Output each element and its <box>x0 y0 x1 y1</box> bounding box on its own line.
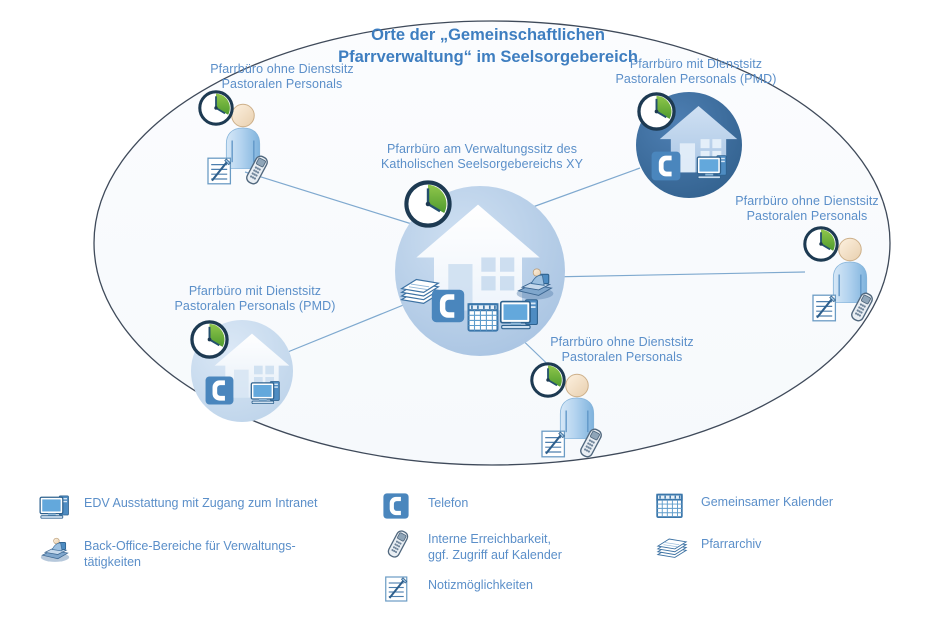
node-label-pfarrbuero-ohne-dienstsitz-top-left: Pfarrbüro ohne Dienstsitz Pastoralen Per… <box>153 62 411 92</box>
diagram-canvas: Orte der „Gemeinschaftlichen Pfarrverwal… <box>0 0 946 625</box>
legend-item-label: Pfarrarchiv <box>701 533 761 552</box>
legend-item-label: Interne Erreichbarkeit, ggf. Zugriff auf… <box>428 528 562 563</box>
node-pfarrbuero-mit-dienstsitz-pmd-top-right[interactable] <box>636 92 742 198</box>
clock-icon <box>200 92 232 124</box>
mobile-phone-icon <box>382 528 416 562</box>
notepad-icon <box>813 295 835 321</box>
telephone-icon <box>206 377 234 405</box>
legend-item-label: Back-Office-Bereiche für Verwaltungs- tä… <box>84 535 296 570</box>
legend-item-label: Gemeinsamer Kalender <box>701 491 833 510</box>
legend-item-pfarrarchiv[interactable]: Pfarrarchiv <box>655 533 761 567</box>
calendar-icon <box>469 304 498 330</box>
node-label-pfarrbuero-ohne-dienstsitz-bottom: Pfarrbüro ohne Dienstsitz Pastoralen Per… <box>527 335 717 365</box>
node-pfarrbuero-mit-dienstsitz-pmd-bottom-left[interactable] <box>191 320 293 422</box>
legend-item-gemeinsamer-kalender[interactable]: Gemeinsamer Kalender <box>655 491 833 525</box>
clock-icon <box>532 364 564 396</box>
telephone-icon <box>432 290 464 322</box>
notepad-icon <box>382 574 416 608</box>
telephone-icon <box>652 152 681 181</box>
legend-item-label: EDV Ausstattung mit Zugang zum Intranet <box>84 492 317 511</box>
clock-icon <box>639 94 674 129</box>
legend-item-back-office[interactable]: Back-Office-Bereiche für Verwaltungs- tä… <box>38 535 296 570</box>
back-office-icon <box>38 535 72 569</box>
clock-icon <box>805 228 837 260</box>
computer-icon <box>38 492 72 526</box>
legend-item-telefon[interactable]: Telefon <box>382 492 468 526</box>
node-label-pfarrbuero-ohne-dienstsitz-right: Pfarrbüro ohne Dienstsitz Pastoralen Per… <box>712 194 902 224</box>
node-label-pfarrbuero-mit-dienstsitz-pmd-top-right: Pfarrbüro mit Dienstsitz Pastoralen Pers… <box>566 57 826 87</box>
legend-item-interne-erreichbarkeit[interactable]: Interne Erreichbarkeit, ggf. Zugriff auf… <box>382 528 562 563</box>
archive-icon <box>655 533 689 567</box>
legend-item-label: Telefon <box>428 492 468 511</box>
notepad-icon <box>542 431 564 457</box>
legend-item-label: Notizmöglichkeiten <box>428 574 533 593</box>
telephone-icon <box>382 492 416 526</box>
node-label-pfarrbuero-mit-dienstsitz-pmd-bottom-left: Pfarrbüro mit Dienstsitz Pastoralen Pers… <box>137 284 373 314</box>
legend: EDV Ausstattung mit Zugang zum Intranet … <box>0 478 946 625</box>
calendar-icon <box>655 491 689 525</box>
node-label-pfarrbuero-am-verwaltungssitz: Pfarrbüro am Verwaltungssitz des Katholi… <box>355 142 609 172</box>
clock-icon <box>192 322 227 357</box>
notepad-icon <box>208 158 230 184</box>
legend-item-edv[interactable]: EDV Ausstattung mit Zugang zum Intranet <box>38 492 317 526</box>
clock-icon <box>406 182 449 225</box>
legend-item-notizmoeglichkeiten[interactable]: Notizmöglichkeiten <box>382 574 533 608</box>
